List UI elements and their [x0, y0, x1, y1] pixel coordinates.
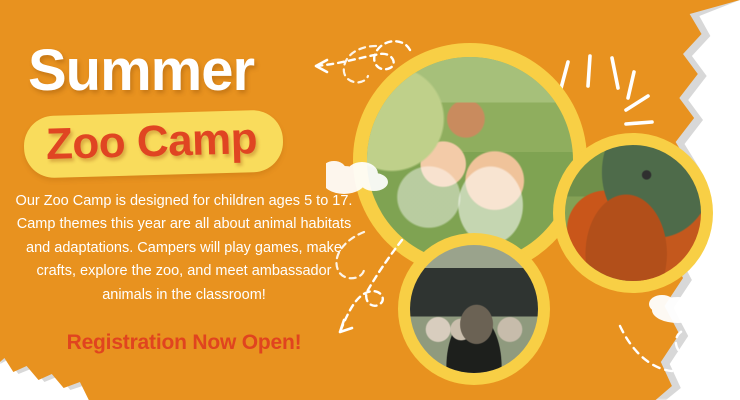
subhead-text: Zoo Camp: [45, 117, 257, 167]
photo-circle-owl-classroom: [398, 233, 550, 385]
registration-callout: Registration Now Open!: [10, 331, 358, 355]
page-title: Summer: [28, 42, 254, 100]
subhead-pill: Zoo Camp: [23, 109, 284, 178]
photo-circle-orangutans: [553, 133, 713, 293]
body-paragraph: Our Zoo Camp is designed for children ag…: [10, 190, 358, 307]
summer-zoo-camp-poster: Summer Zoo Camp Our Zoo Camp is designed…: [0, 0, 740, 400]
photo-orangutans: [565, 145, 701, 281]
photo-owl-classroom: [410, 245, 538, 373]
